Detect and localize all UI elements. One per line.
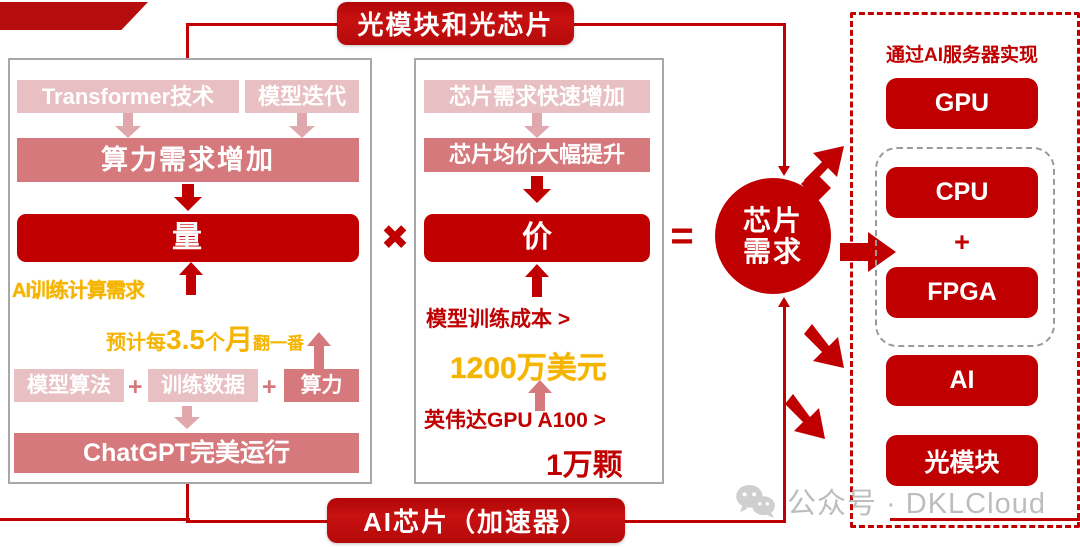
connector-rail-bottom-left-vertical: [186, 480, 189, 523]
box-training-data: 训练数据: [148, 369, 258, 402]
arrowhead-into-hub-bottom-icon: [778, 297, 790, 307]
chip-cpu: CPU: [886, 167, 1038, 218]
down-arrow-iteration-icon: [288, 113, 316, 139]
chip-gpu: GPU: [886, 78, 1038, 129]
doubling-unit-big: 月: [225, 318, 253, 358]
chip-optical-module: 光模块: [886, 435, 1038, 486]
chip-group-plus-sign: +: [886, 227, 1038, 258]
box-price-result: 价: [424, 214, 650, 262]
box-model-algorithm: 模型算法: [14, 369, 124, 402]
banner-optical-module: 光模块和光芯片: [337, 2, 574, 45]
arrowhead-into-hub-top-icon: [778, 166, 790, 176]
label-nvidia-gpu-a100: 英伟达GPU A100 >: [424, 404, 606, 434]
doubling-suffix: 翻一番: [253, 329, 304, 354]
doubling-prefix: 预计每: [106, 326, 166, 355]
connector-rail-top-right-vertical: [783, 23, 786, 173]
box-compute-power: 算力: [284, 369, 359, 402]
banner-ai-chip: AI芯片（加速器）: [327, 498, 625, 543]
down-arrow-transformer-icon: [114, 113, 142, 139]
down-arrow-chip-demand-icon: [523, 113, 551, 139]
down-arrow-to-chatgpt-icon: [173, 406, 201, 430]
box-chip-demand-rapid-increase: 芯片需求快速增加: [424, 80, 650, 113]
bent-arrow-to-optical-module-icon: [780, 390, 842, 452]
box-compute-demand-increase: 算力需求增加: [17, 138, 359, 182]
doubling-unit-small: 个: [205, 326, 225, 355]
box-chatgpt-running: ChatGPT完美运行: [14, 433, 359, 473]
corner-ribbon: [0, 2, 148, 30]
value-nvidia-gpu-a100: 1万颗: [546, 440, 623, 484]
chip-ai: AI: [886, 355, 1038, 406]
label-ai-training-demand: AI训练计算需求: [12, 274, 144, 303]
hub-line-1: 芯片: [743, 205, 803, 236]
up-arrow-training-demand-icon: [178, 262, 204, 296]
down-arrow-to-price-icon: [522, 176, 552, 204]
connector-rail-edge-left: [0, 518, 190, 521]
operator-multiply: ✖: [378, 218, 412, 258]
box-transformer-tech: Transformer技术: [17, 80, 239, 113]
doubling-number: 3.5: [166, 324, 205, 356]
wechat-icon: [735, 484, 777, 518]
operator-equals: =: [664, 216, 700, 256]
plus-sign-1: +: [128, 375, 143, 400]
up-arrow-to-price-icon: [524, 264, 550, 298]
infographic-canvas: 光模块和光芯片 AI芯片（加速器） Transformer技术 模型迭代 算力需…: [0, 0, 1080, 547]
label-model-training-cost: 模型训练成本 >: [426, 303, 570, 333]
box-model-iteration: 模型迭代: [245, 80, 359, 113]
chip-fpga: FPGA: [886, 267, 1038, 318]
box-chip-price-increase: 芯片均价大幅提升: [424, 138, 650, 172]
down-arrow-to-volume-icon: [173, 184, 203, 212]
hub-line-2: 需求: [743, 236, 803, 267]
box-volume-result: 量: [17, 214, 359, 262]
label-doubling-period: 预计每 3.5 个 月 翻一番: [106, 318, 304, 358]
right-panel-title: 通过AI服务器实现: [852, 40, 1072, 67]
up-arrow-compute-power-icon: [306, 332, 332, 370]
plus-sign-2: +: [262, 375, 277, 400]
